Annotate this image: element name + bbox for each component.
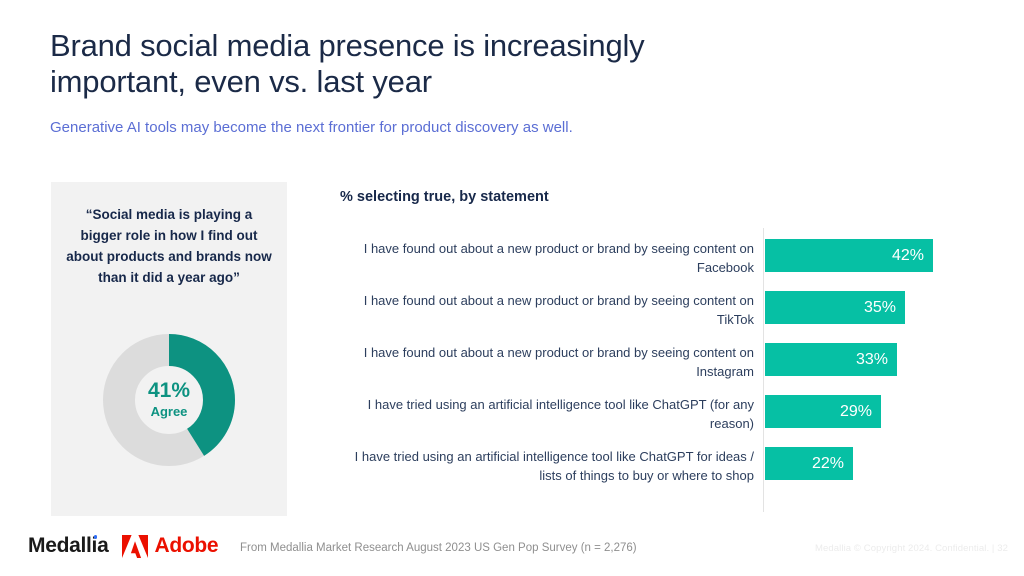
bar-value-label: 42% bbox=[892, 239, 933, 272]
bar-track: 35% bbox=[765, 291, 905, 324]
adobe-logo: Adobe bbox=[122, 534, 218, 558]
bar-track: 33% bbox=[765, 343, 897, 376]
bar-label: I have found out about a new product or … bbox=[340, 291, 754, 329]
bar-track: 42% bbox=[765, 239, 933, 272]
page-subtitle: Generative AI tools may become the next … bbox=[50, 118, 810, 138]
donut-chart: 41% Agree bbox=[103, 334, 235, 466]
copyright-note: Medallia © Copyright 2024. Confidential.… bbox=[815, 543, 1008, 554]
bar-fill: 33% bbox=[765, 343, 897, 376]
bar-fill: 42% bbox=[765, 239, 933, 272]
adobe-wordmark: Adobe bbox=[154, 534, 218, 558]
bar-fill: 22% bbox=[765, 447, 853, 480]
bar-fill: 29% bbox=[765, 395, 881, 428]
donut-label: Agree bbox=[151, 403, 188, 421]
footer-logos: Medallia Adobe bbox=[28, 534, 218, 558]
bar-value-label: 33% bbox=[856, 343, 897, 376]
bar-chart: I have found out about a new product or … bbox=[340, 228, 970, 512]
quote-panel: “Social media is playing a bigger role i… bbox=[51, 182, 287, 516]
page-title: Brand social media presence is increasin… bbox=[50, 28, 740, 100]
bar-track: 29% bbox=[765, 395, 881, 428]
bar-value-label: 29% bbox=[840, 395, 881, 428]
bar-value-label: 35% bbox=[864, 291, 905, 324]
bar-label: I have tried using an artificial intelli… bbox=[340, 447, 754, 485]
source-note: From Medallia Market Research August 202… bbox=[240, 542, 637, 554]
bar-value-label: 22% bbox=[812, 447, 853, 480]
adobe-a-mark-icon bbox=[122, 535, 148, 558]
chart-title: % selecting true, by statement bbox=[340, 189, 549, 205]
bar-row: I have found out about a new product or … bbox=[340, 239, 970, 291]
bar-row: I have found out about a new product or … bbox=[340, 291, 970, 343]
bar-label: I have found out about a new product or … bbox=[340, 239, 754, 277]
bar-fill: 35% bbox=[765, 291, 905, 324]
bar-label: I have found out about a new product or … bbox=[340, 343, 754, 381]
bar-label: I have tried using an artificial intelli… bbox=[340, 395, 754, 433]
bar-row: I have tried using an artificial intelli… bbox=[340, 447, 970, 499]
bar-row: I have found out about a new product or … bbox=[340, 343, 970, 395]
donut-value: 41% bbox=[148, 379, 190, 403]
quote-text: “Social media is playing a bigger role i… bbox=[65, 204, 273, 288]
donut-center-label: 41% Agree bbox=[103, 334, 235, 466]
medallia-logo: Medallia bbox=[28, 534, 108, 558]
bar-track: 22% bbox=[765, 447, 853, 480]
bar-row: I have tried using an artificial intelli… bbox=[340, 395, 970, 447]
